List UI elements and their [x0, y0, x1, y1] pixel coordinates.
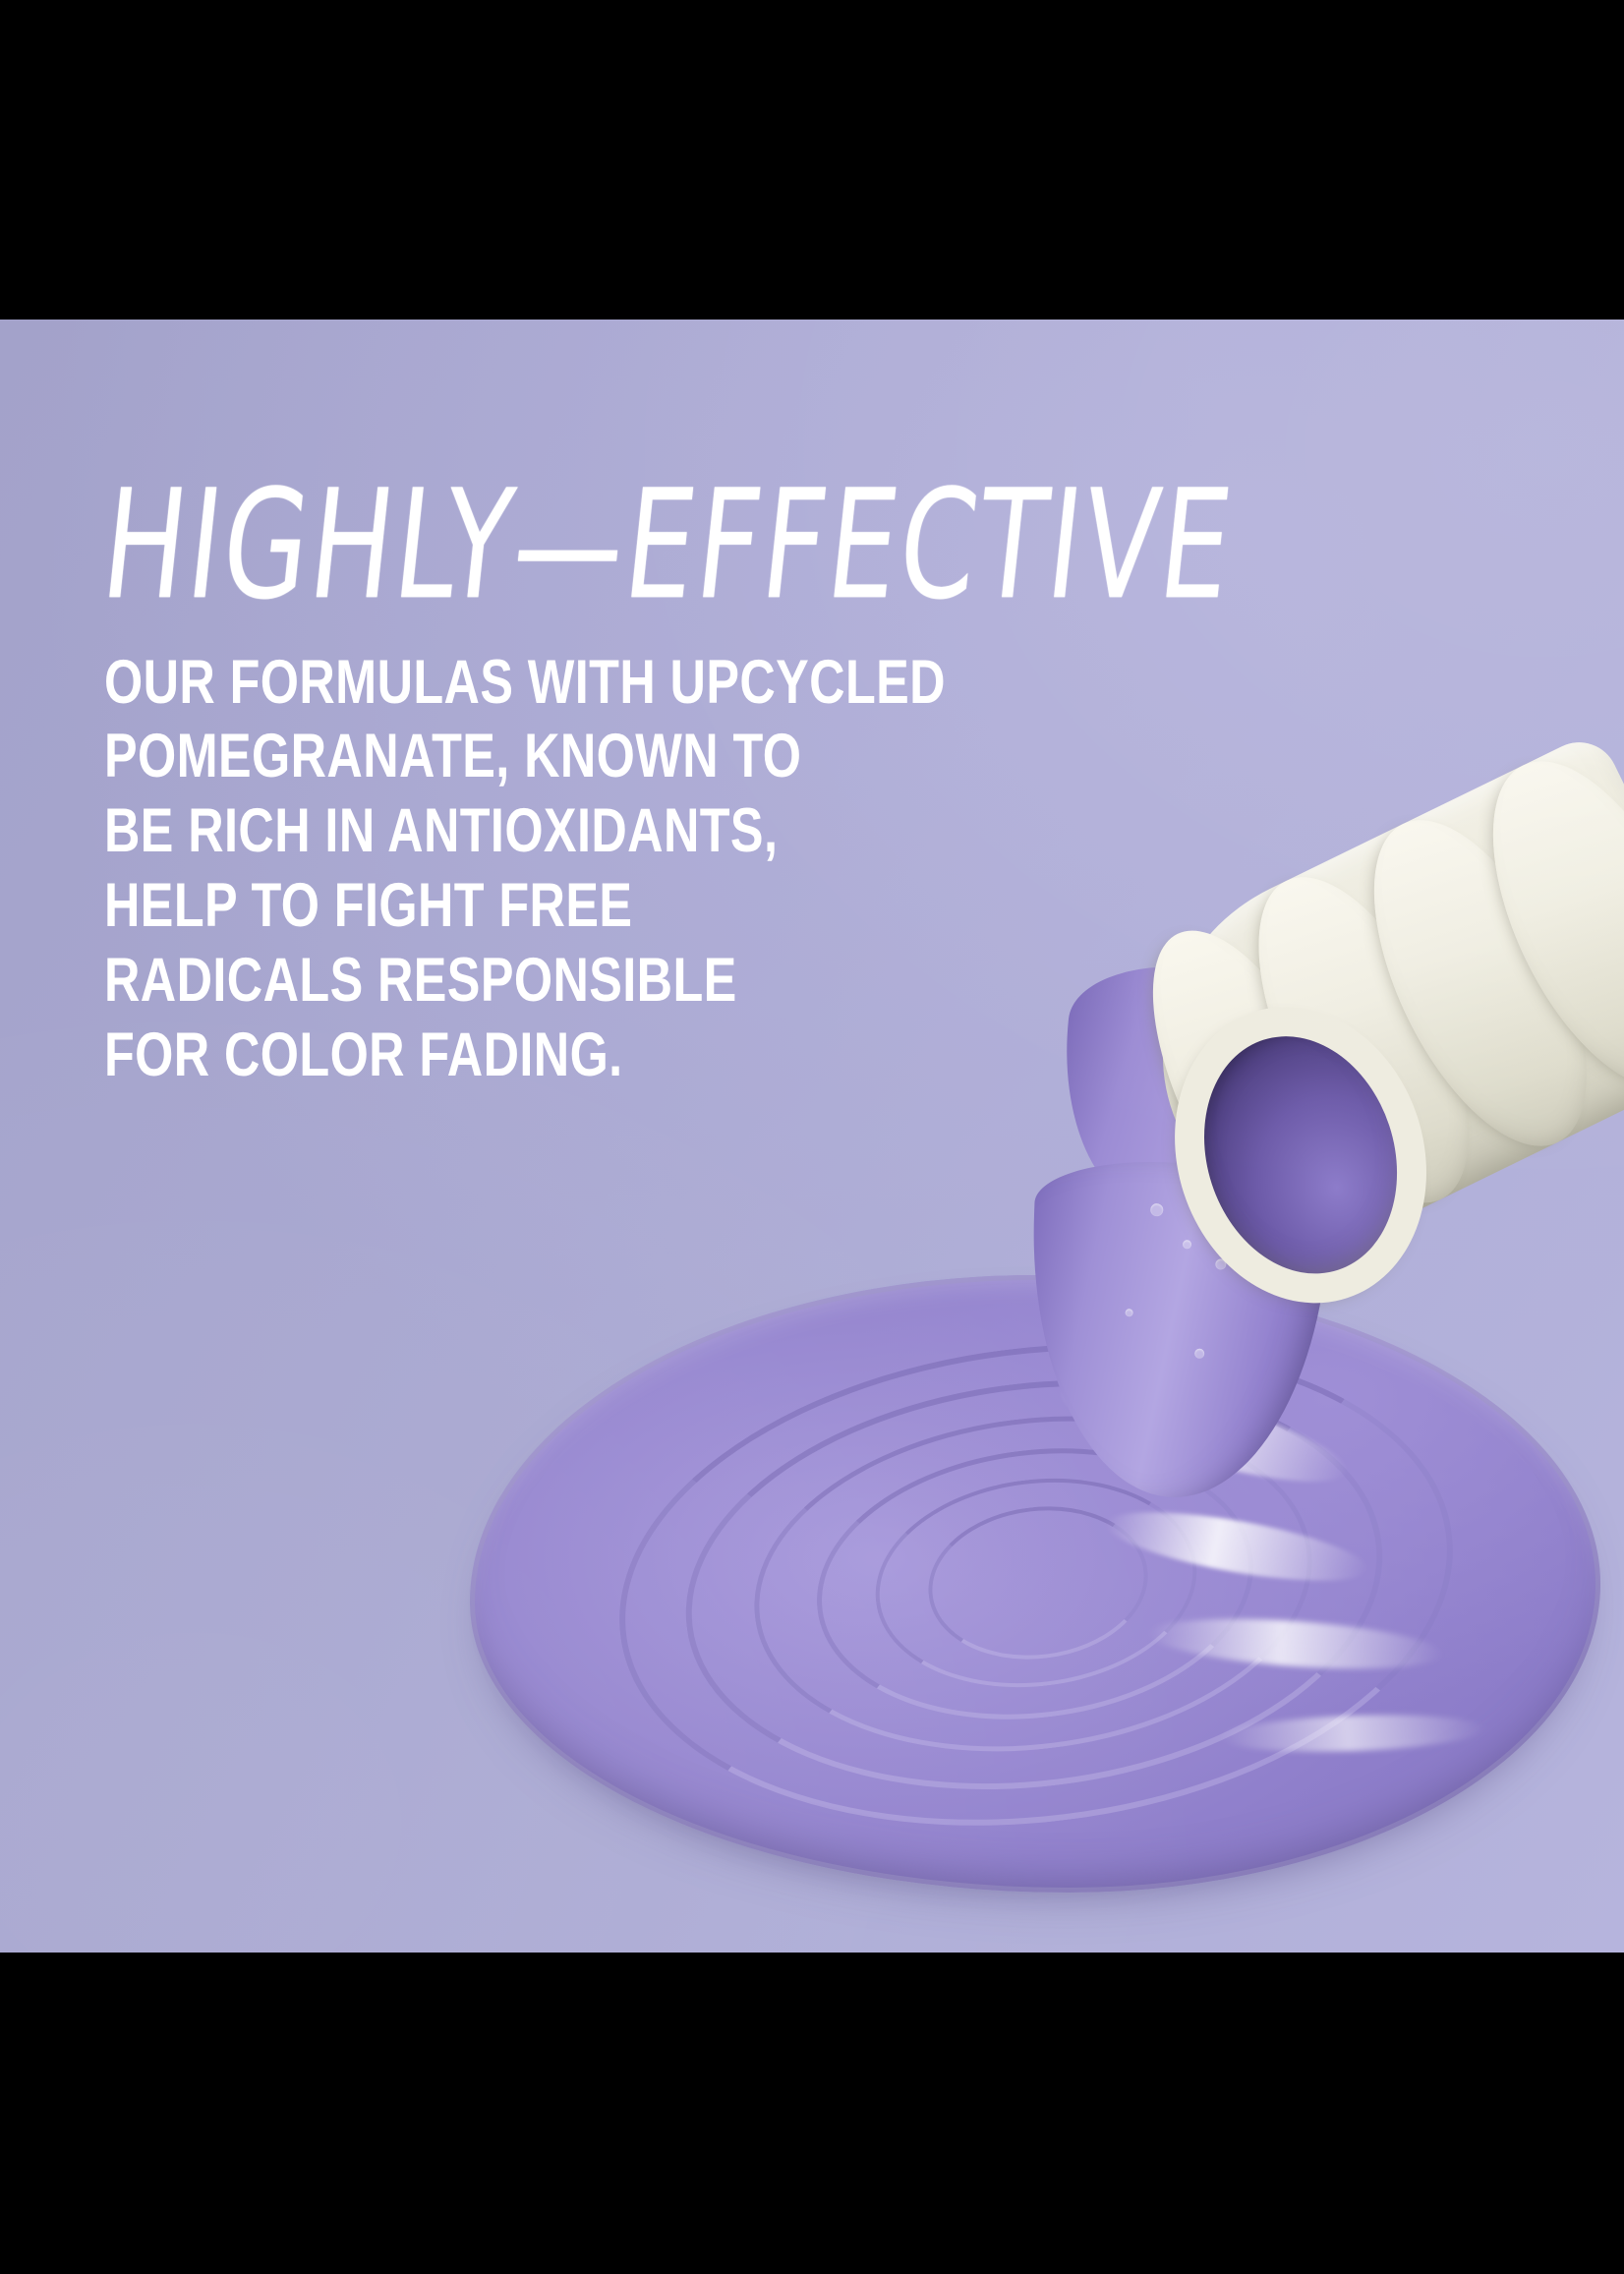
puddle-ripple-ring [592, 1299, 1480, 1871]
product-bubble [1125, 1309, 1132, 1316]
body-copy-line: HELP TO FIGHT FREE [104, 869, 906, 944]
body-copy-line: FOR COLOR FADING. [104, 1019, 906, 1093]
letterbox-bar-bottom [0, 1953, 1624, 2274]
product-bubble [1194, 1349, 1204, 1359]
puddle-specular-highlight [1103, 1498, 1371, 1595]
puddle-specular-highlight [1220, 1711, 1484, 1755]
page-title: HIGHLY—EFFECTIVE [97, 476, 1055, 614]
copy-block: HIGHLY—EFFECTIVE OUR FORMULAS WITH UPCYC… [104, 492, 1107, 1093]
body-copy-line: RADICALS RESPONSIBLE [104, 944, 906, 1019]
body-copy-line: OUR FORMULAS WITH UPCYCLED [104, 646, 906, 721]
puddle-specular-highlight [1147, 1611, 1444, 1677]
screenshot-canvas: HIGHLY—EFFECTIVE OUR FORMULAS WITH UPCYC… [0, 0, 1624, 2274]
product-bubble [1183, 1240, 1191, 1249]
puddle-ripple-ring [863, 1461, 1208, 1705]
body-copy-line: BE RICH IN ANTIOXIDANTS, [104, 794, 906, 869]
body-copy-list: OUR FORMULAS WITH UPCYCLED POMEGRANATE, … [104, 646, 1107, 1093]
puddle-ripple-ring [663, 1342, 1407, 1828]
letterbox-bar-top [0, 0, 1624, 320]
product-creative-card: HIGHLY—EFFECTIVE OUR FORMULAS WITH UPCYC… [0, 320, 1624, 1953]
body-copy-line: POMEGRANATE, KNOWN TO [104, 720, 906, 794]
product-bubble [1150, 1203, 1163, 1216]
puddle-surface [470, 1275, 1600, 1893]
